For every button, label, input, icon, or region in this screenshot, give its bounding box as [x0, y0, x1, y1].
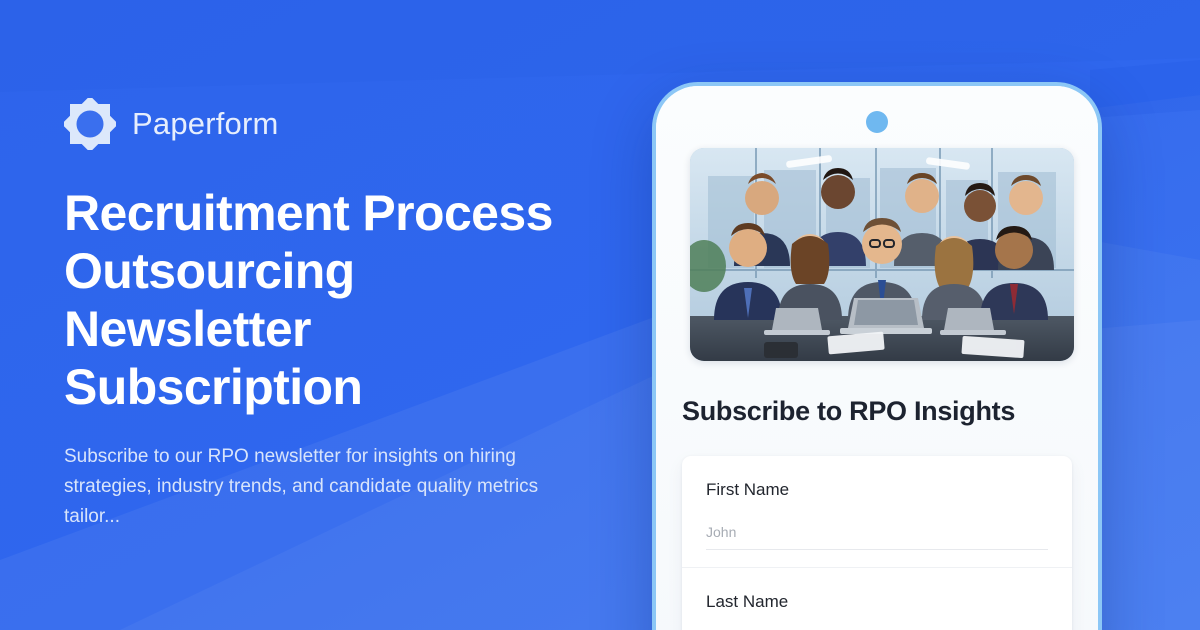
first-name-input[interactable]: John [706, 524, 1048, 550]
phone-mockup: Subscribe to RPO Insights First Name Joh… [652, 82, 1102, 630]
subscription-form: First Name John Last Name [682, 456, 1072, 630]
hero-description: Subscribe to our RPO newsletter for insi… [64, 442, 554, 532]
phone-screen: Subscribe to RPO Insights First Name Joh… [656, 86, 1098, 630]
paperform-logo-icon [64, 98, 116, 150]
form-field-last-name[interactable]: Last Name [682, 568, 1072, 612]
camera-dot-icon [866, 111, 888, 133]
form-field-first-name[interactable]: First Name John [682, 456, 1072, 568]
page-title: Recruitment Process Outsourcing Newslett… [64, 184, 584, 416]
business-team-meeting-photo [690, 148, 1074, 361]
first-name-label: First Name [706, 480, 1048, 500]
last-name-label: Last Name [706, 592, 1048, 612]
brand-name: Paperform [132, 106, 279, 142]
brand-lockup: Paperform [64, 98, 624, 150]
form-title: Subscribe to RPO Insights [682, 396, 1015, 427]
form-hero-image [690, 148, 1074, 361]
hero-content: Paperform Recruitment Process Outsourcin… [64, 0, 624, 630]
